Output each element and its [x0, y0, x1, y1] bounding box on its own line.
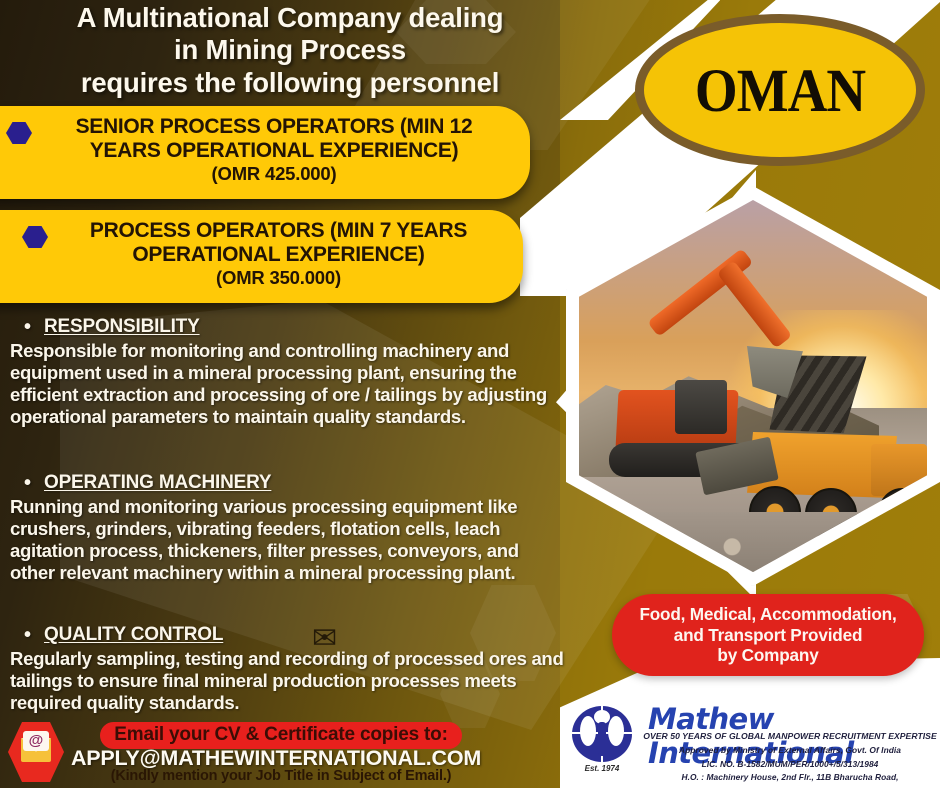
- job-banner-senior-process-operators[interactable]: SENIOR PROCESS OPERATORS (MIN 12 YEARS O…: [0, 106, 530, 199]
- job-title-label: PROCESS OPERATORS (MIN 7 YEARS OPERATION…: [90, 219, 467, 266]
- photo-excavator-cab: [675, 380, 727, 434]
- job-title-label: SENIOR PROCESS OPERATORS (MIN 12 YEARS O…: [76, 115, 473, 162]
- logo-stem: [598, 722, 606, 756]
- hexagon-bullet-icon: [6, 122, 32, 144]
- envelope-icon: ✉: [312, 626, 348, 652]
- benefits-box: Food, Medical, Accommodation, and Transp…: [612, 594, 924, 676]
- hexagon-bullet-icon: [22, 226, 48, 248]
- duty-section-quality-control: QUALITY CONTROL Regularly sampling, test…: [0, 624, 568, 714]
- photo-image: [579, 200, 927, 572]
- page-title: A Multinational Company dealing in Minin…: [0, 2, 580, 99]
- company-license: LIC. NO. B-1582/MUM/PER/1000+/5/313/1984: [640, 758, 940, 772]
- job-banner-process-operators[interactable]: PROCESS OPERATORS (MIN 7 YEARS OPERATION…: [0, 210, 523, 303]
- logo-cutout: [580, 716, 596, 746]
- duty-section-operating-machinery: OPERATING MACHINERY Running and monitori…: [0, 472, 568, 585]
- company-address-line1: H.O. : Machinery House, 2nd Flr., 11B Bh…: [640, 771, 940, 785]
- company-tagline: OVER 50 YEARS OF GLOBAL MANPOWER RECRUIT…: [640, 730, 940, 744]
- company-details: OVER 50 YEARS OF GLOBAL MANPOWER RECRUIT…: [640, 730, 940, 788]
- duty-body: Responsible for monitoring and controlli…: [10, 340, 568, 429]
- logo-cutout: [608, 716, 624, 746]
- company-approval: Approved by Ministry of External Affairs…: [640, 744, 940, 758]
- duty-heading: RESPONSIBILITY: [44, 316, 568, 338]
- job-title-text: PROCESS OPERATORS (MIN 7 YEARS OPERATION…: [54, 219, 503, 289]
- duty-heading: QUALITY CONTROL: [44, 624, 568, 646]
- duty-section-responsibility: RESPONSIBILITY Responsible for monitorin…: [0, 316, 568, 429]
- job-salary-label: (OMR 425.000): [38, 163, 510, 184]
- duty-body: Running and monitoring various processin…: [10, 496, 568, 585]
- at-symbol: @: [23, 731, 49, 751]
- cta-heading: Email your CV & Certificate copies to:: [86, 722, 476, 749]
- recruitment-poster: A Multinational Company dealing in Minin…: [0, 0, 940, 788]
- duty-heading: OPERATING MACHINERY: [44, 472, 568, 494]
- duty-body: Regularly sampling, testing and recordin…: [10, 648, 568, 714]
- company-logo-icon: Est. 1974: [566, 706, 638, 778]
- job-salary-label: (OMR 350.000): [54, 267, 503, 288]
- logo-established-label: Est. 1974: [566, 764, 638, 773]
- country-badge: OMAN: [635, 14, 925, 166]
- country-badge-label: OMAN: [695, 55, 865, 126]
- cta-heading-label: Email your CV & Certificate copies to:: [100, 722, 461, 749]
- job-title-text: SENIOR PROCESS OPERATORS (MIN 12 YEARS O…: [38, 115, 510, 185]
- cta-note: (Kindly mention your Job Title in Subjec…: [76, 768, 486, 784]
